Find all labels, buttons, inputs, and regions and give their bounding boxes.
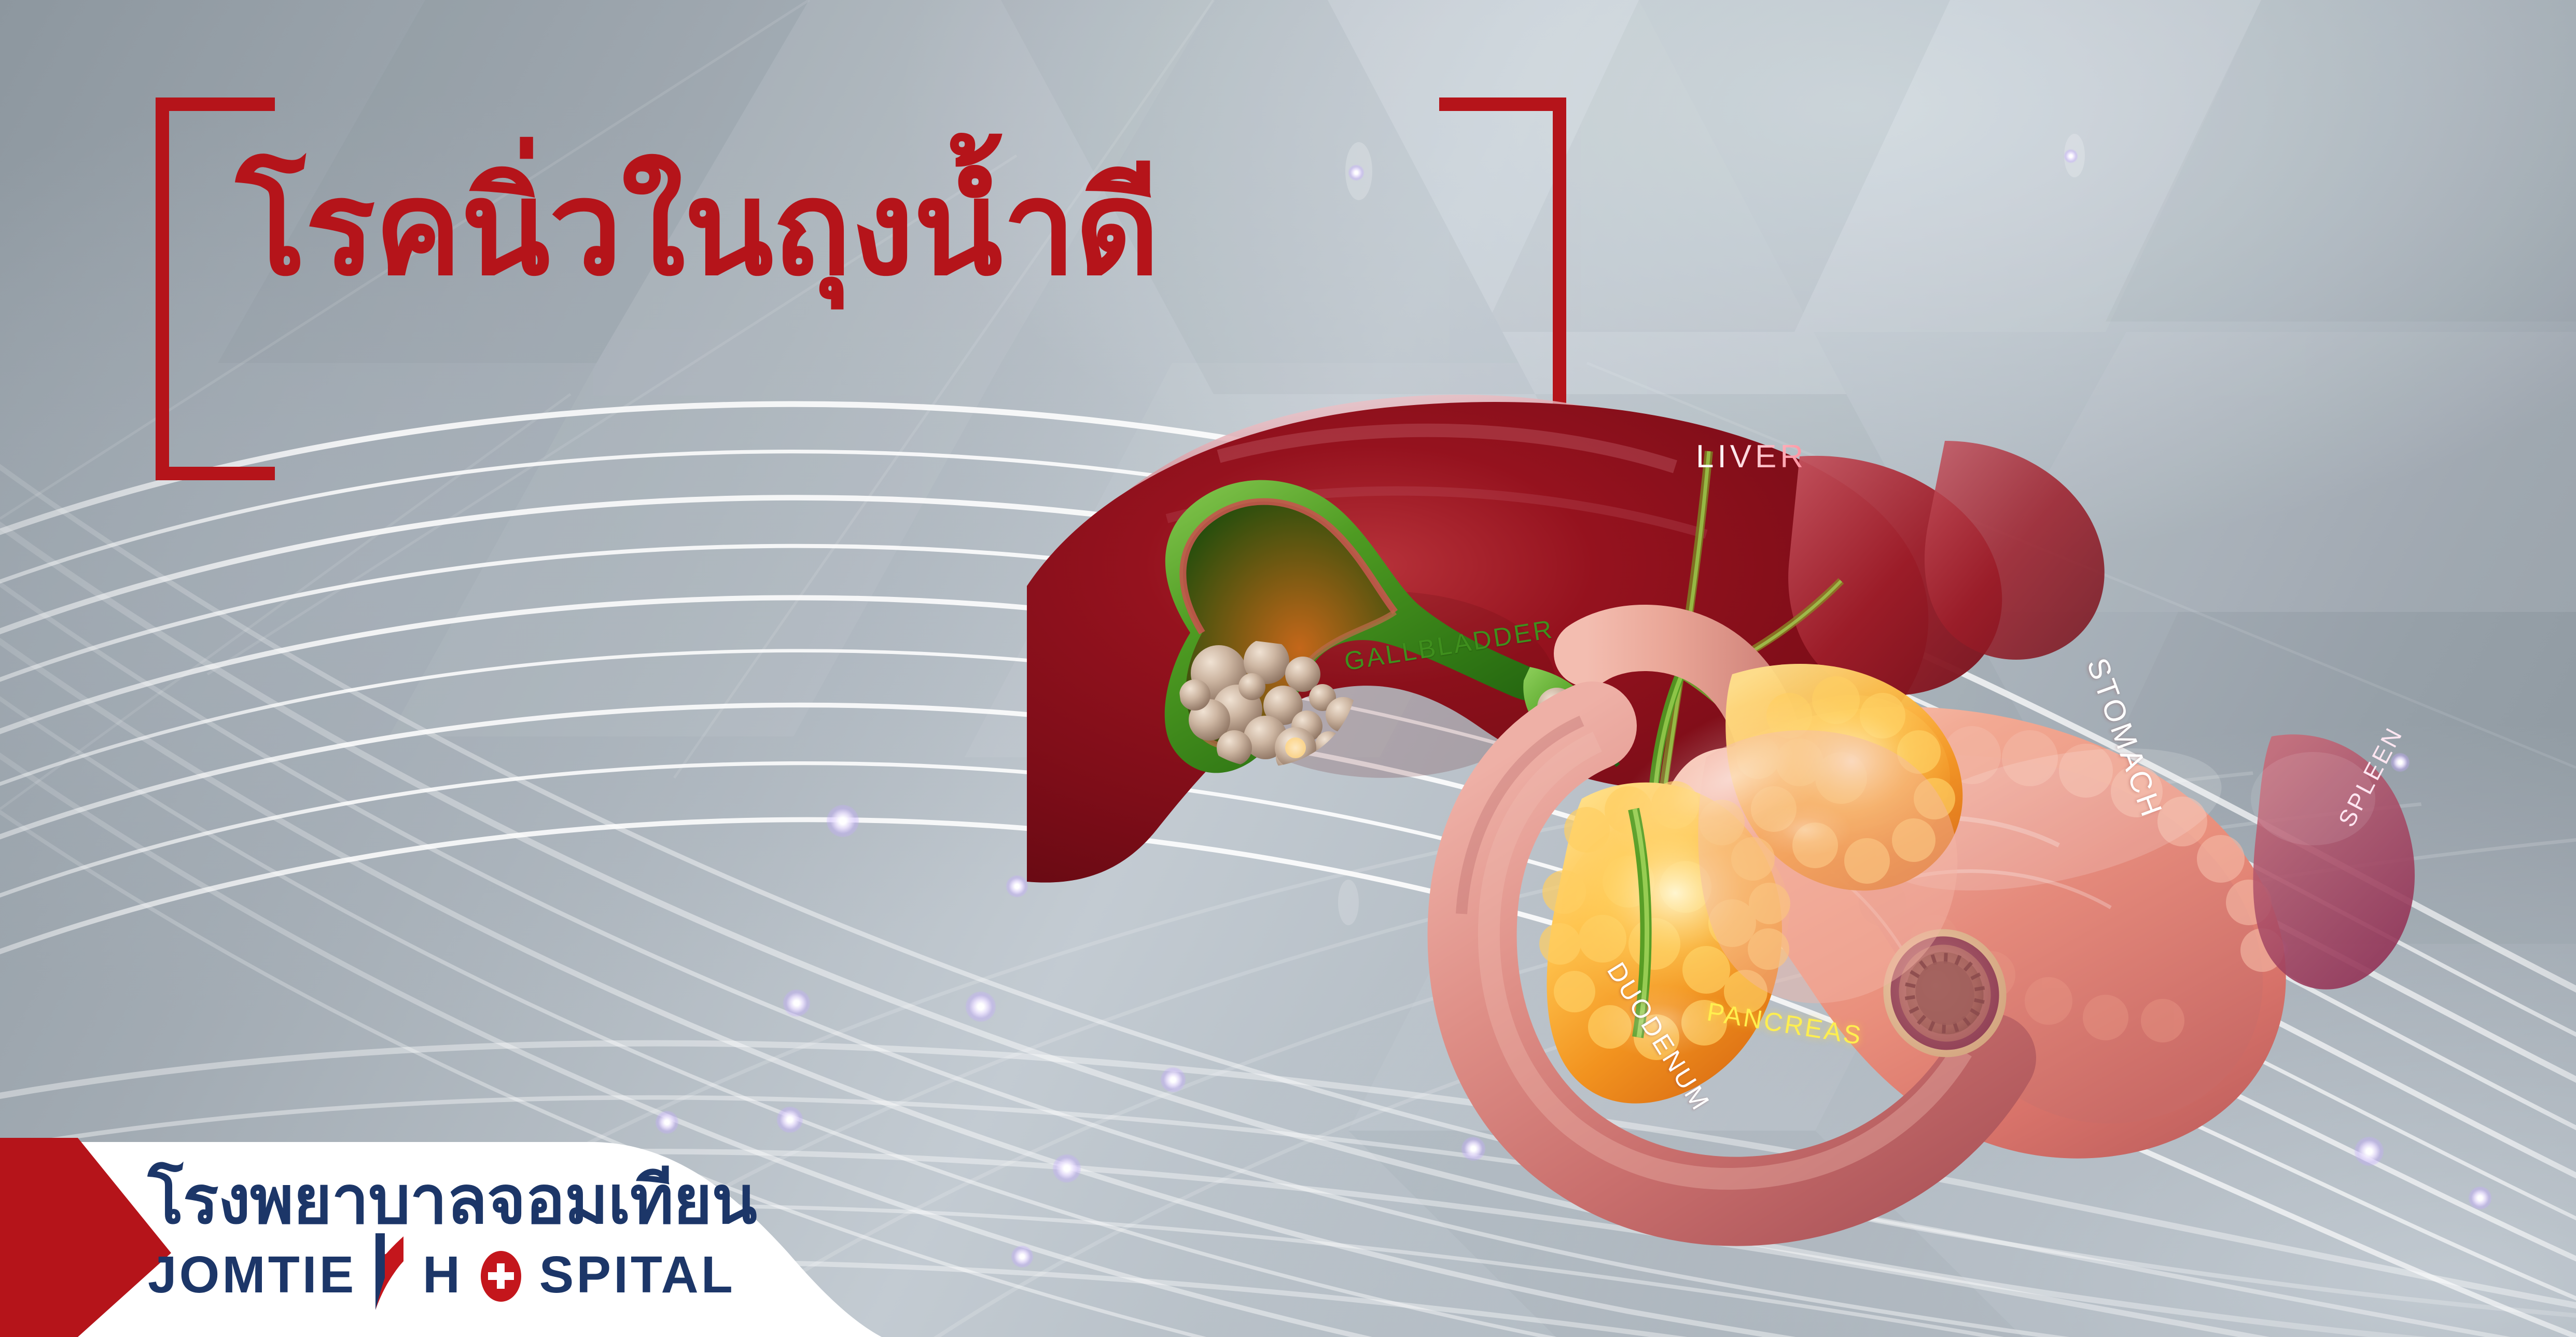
logo-text-jomtie: JOMTIE [148,1245,356,1305]
banner-canvas: โรคนิ่วในถุงน้ำดี [0,0,2576,1337]
flag-swoosh-icon [373,1248,406,1300]
page-title: โรคนิ่วในถุงน้ำดี [236,156,1481,302]
hospital-logo[interactable]: โรงพยาบาลจอมเทียน JOMTIE H SPITAL [148,1167,770,1305]
logo-english-name: JOMTIE H SPITAL [148,1245,735,1305]
logo-thai-name: โรงพยาบาลจอมเทียน [148,1167,770,1234]
logo-text-spital: SPITAL [539,1245,735,1305]
liver-lobe-segment [1925,441,2105,660]
logo-text-h: H [423,1245,463,1305]
digestive-system-illustration [1063,363,2576,1307]
medical-cross-icon [481,1248,521,1302]
